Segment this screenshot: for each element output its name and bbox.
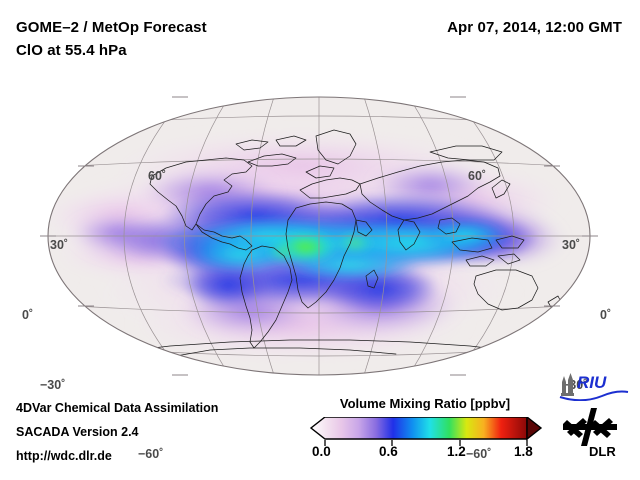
map-plot: 60˚ 30˚ 0˚ −30˚ −60˚ 60˚ 30˚ 0˚ −30˚ −60… [0,80,640,385]
colorbar: Volume Mixing Ratio [ppbv] 0.0 0.6 1.2 1… [305,396,545,466]
lat-label-right-0: 0˚ [600,308,611,322]
lat-ticks [0,80,640,385]
lat-label-left-60: 60˚ [148,169,166,183]
page-subtitle: ClO at 55.4 hPa [16,42,127,59]
colorbar-title: Volume Mixing Ratio [ppbv] [305,396,545,411]
colorbar-tick-3: 1.8 [514,444,533,459]
colorbar-tick-1: 0.6 [379,444,398,459]
colorbar-graphic [305,417,545,463]
lat-label-left-0: 0˚ [22,308,33,322]
dlr-mark-icon [563,408,617,446]
lat-label-left-m60: −60˚ [138,447,163,461]
lat-label-right-60: 60˚ [468,169,486,183]
colorbar-tick-0: 0.0 [312,444,331,459]
lat-label-left-30: 30˚ [50,238,68,252]
dlr-logo-text: DLR [589,444,616,458]
lat-label-right-30: 30˚ [562,238,580,252]
datestamp: Apr 07, 2014, 12:00 GMT [447,19,622,36]
colorbar-max-arrow [527,417,541,439]
footer-line-2: SACADA Version 2.4 [16,425,139,439]
colorbar-body [311,417,527,439]
colorbar-tick-2: 1.2 [447,444,466,459]
dlr-logo: DLR [561,406,631,458]
riu-logo: RIU [556,371,632,401]
cathedral-icon [561,373,574,396]
footer-link[interactable]: http://wdc.dlr.de [16,449,112,463]
riu-logo-text: RIU [577,373,607,392]
footer-line-1: 4DVar Chemical Data Assimilation [16,401,218,415]
lat-label-left-m30: −30˚ [40,378,65,392]
page-title: GOME–2 / MetOp Forecast [16,19,207,36]
